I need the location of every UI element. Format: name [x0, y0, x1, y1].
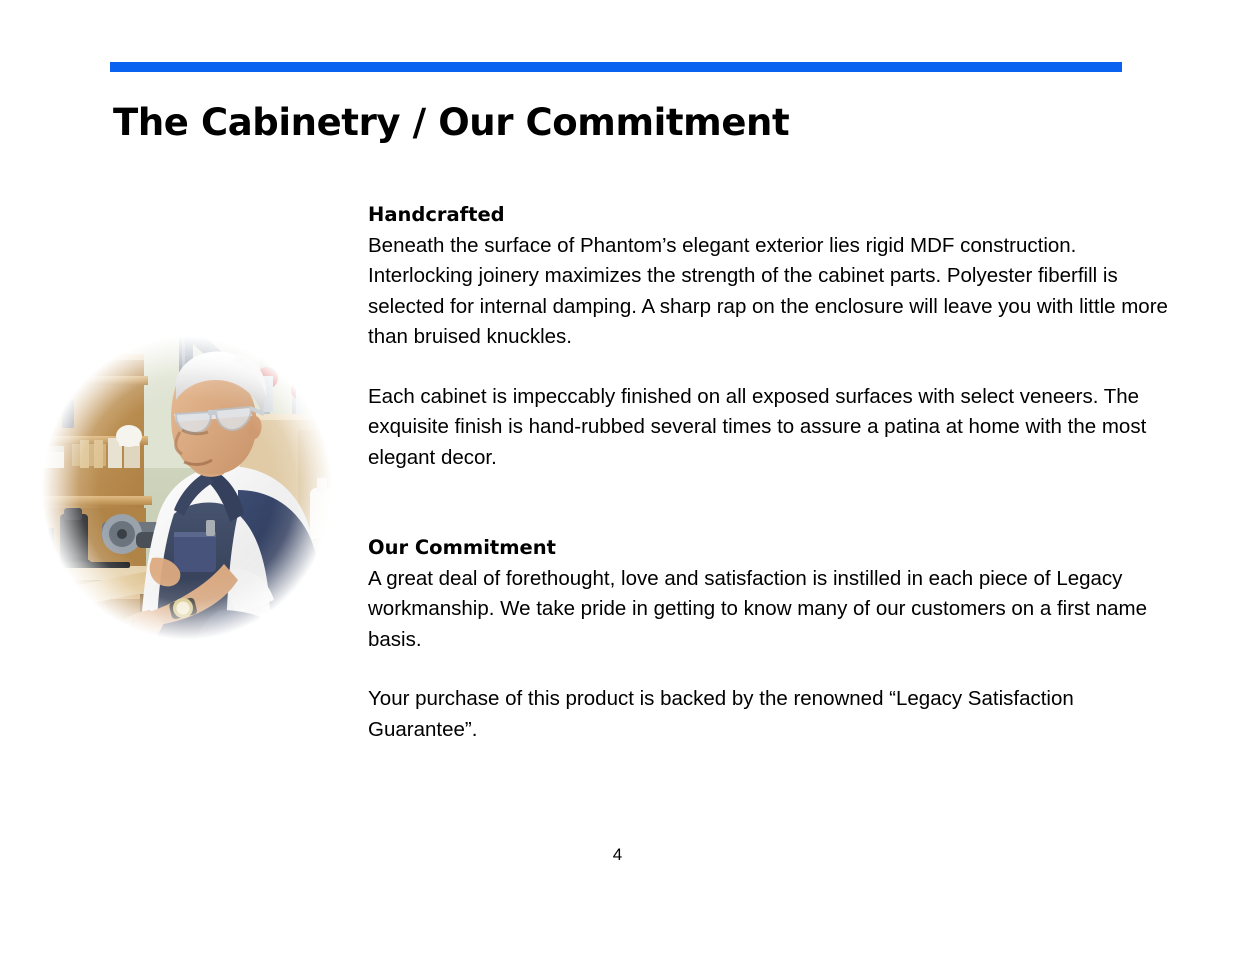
- section-our-commitment: Our Commitment A great deal of forethoug…: [368, 533, 1180, 655]
- craftsman-photo: [24, 318, 350, 658]
- body-content: Handcrafted Beneath the surface of Phant…: [368, 200, 1180, 745]
- section-heading-our-commitment: Our Commitment: [368, 533, 1180, 564]
- commitment-paragraph-2-block: Your purchase of this product is backed …: [368, 684, 1180, 745]
- title-accent-bar: [110, 62, 1122, 72]
- handcrafted-paragraph-2-block: Each cabinet is impeccably finished on a…: [368, 382, 1180, 474]
- commitment-paragraph-2: Your purchase of this product is backed …: [368, 684, 1180, 745]
- section-heading-handcrafted: Handcrafted: [368, 200, 1180, 231]
- section-handcrafted: Handcrafted Beneath the surface of Phant…: [368, 200, 1180, 353]
- handcrafted-paragraph-2: Each cabinet is impeccably finished on a…: [368, 382, 1180, 474]
- page-title: The Cabinetry / Our Commitment: [113, 101, 789, 144]
- slide-page: The Cabinetry / Our Commitment: [0, 0, 1235, 954]
- workshop-illustration: [24, 318, 350, 658]
- commitment-paragraph-1: A great deal of forethought, love and sa…: [368, 564, 1180, 656]
- photo-oval-mask: [24, 318, 350, 658]
- page-number: 4: [0, 845, 1235, 865]
- handcrafted-paragraph-1: Beneath the surface of Phantom’s elegant…: [368, 231, 1180, 353]
